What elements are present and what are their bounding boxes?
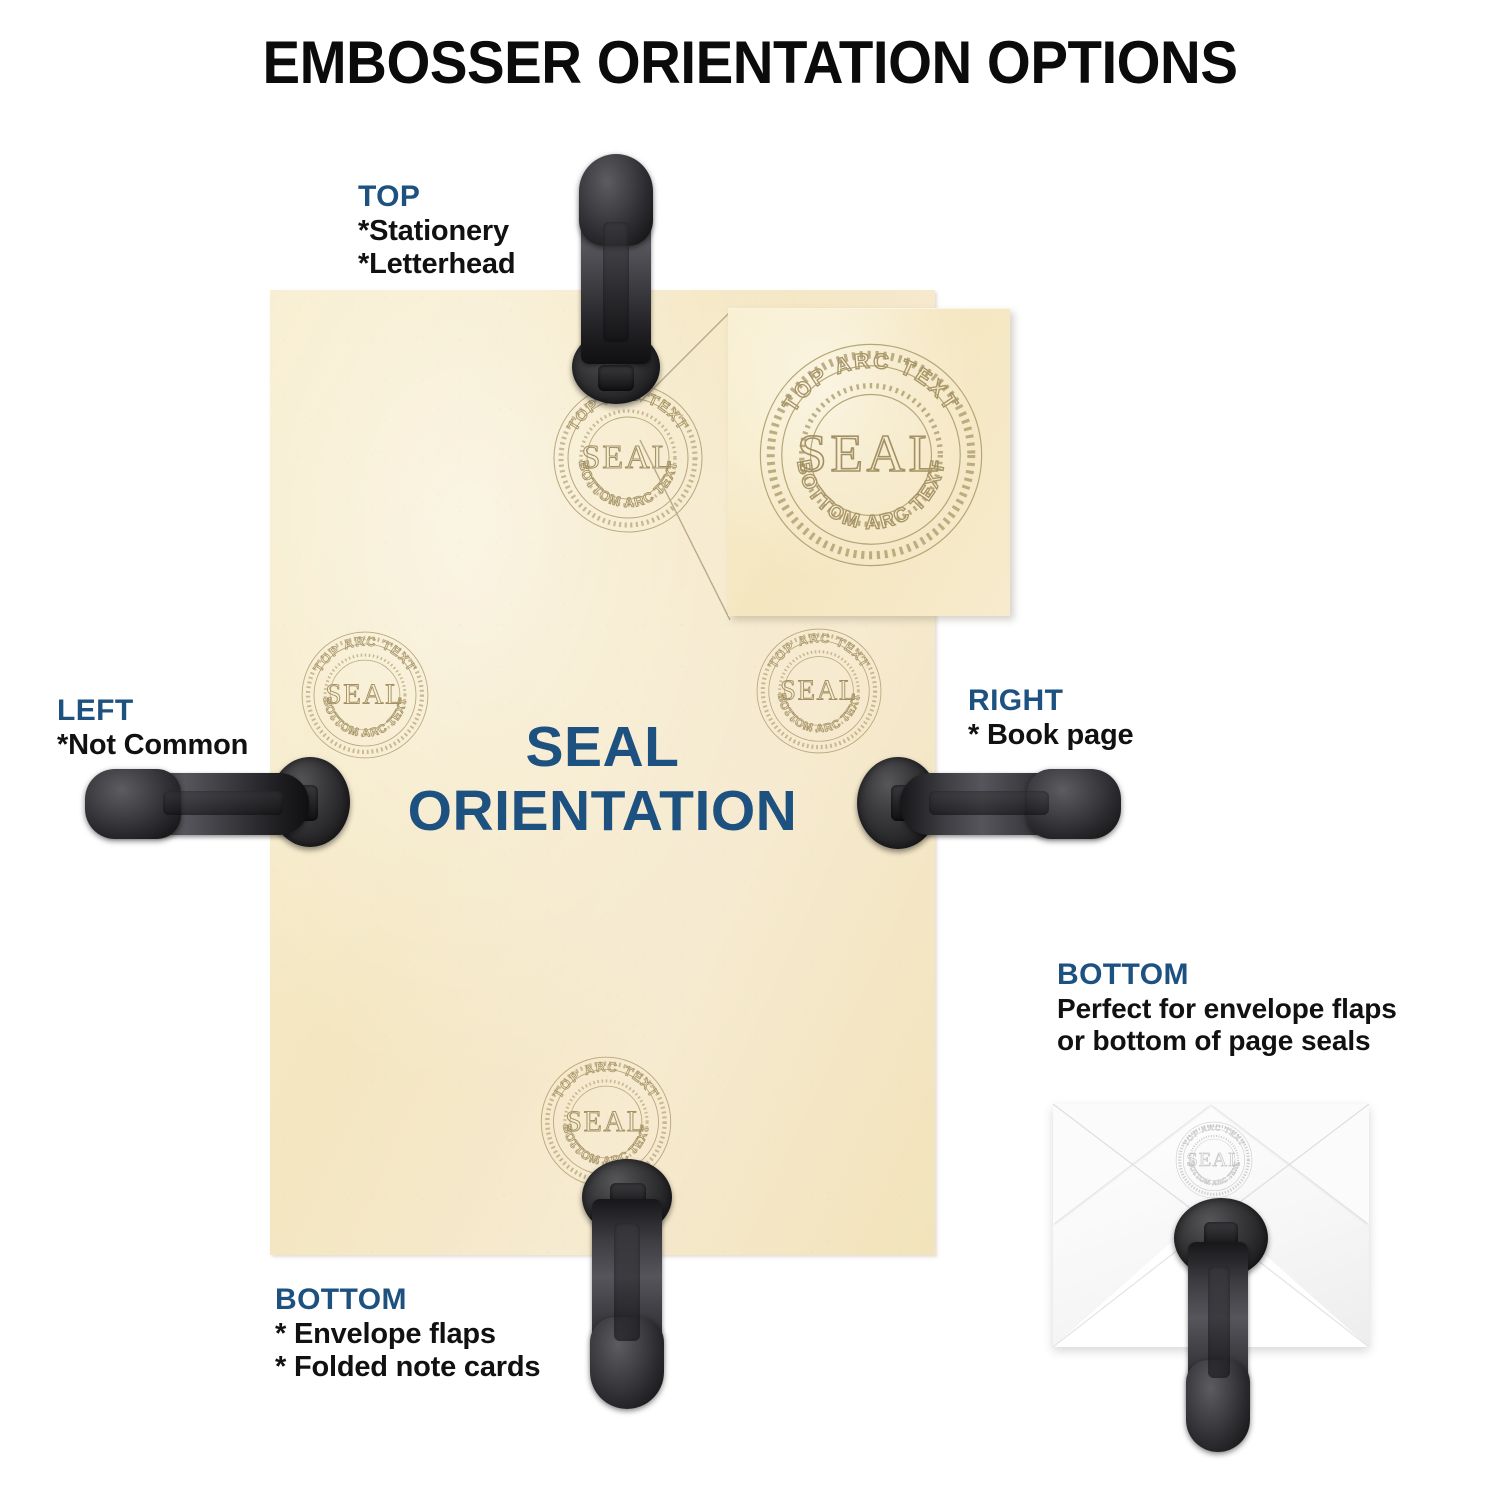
callout-right: RIGHT * Book page	[968, 684, 1133, 752]
page-title: EMBOSSER ORIENTATION OPTIONS	[45, 28, 1455, 97]
seal-top-arc-text: TOP ARC TEXT	[778, 349, 964, 417]
seal-center-text: SEAL	[797, 425, 944, 483]
callout-left-line-1: *Not Common	[57, 729, 248, 763]
callout-bottom-envelope-line-1: Perfect for envelope flaps	[1057, 993, 1397, 1025]
callout-right-line-1: * Book page	[968, 719, 1133, 753]
svg-text:TOP ARC TEXT: TOP ARC TEXT	[778, 349, 964, 417]
callout-bottom-paper-line-1: * Envelope flaps	[275, 1318, 540, 1352]
callout-left: LEFT *Not Common	[57, 694, 248, 762]
callout-top-heading: TOP	[358, 180, 515, 215]
center-wordmark-line1: SEAL	[270, 715, 935, 779]
callout-top-line-1: *Stationery	[358, 215, 515, 249]
callout-bottom-paper-line-2: * Folded note cards	[275, 1351, 540, 1385]
svg-text:BOTTOM ARC TEXT: BOTTOM ARC TEXT	[792, 458, 950, 534]
callout-top-line-2: *Letterhead	[358, 248, 515, 282]
callout-right-heading: RIGHT	[968, 684, 1133, 719]
callout-bottom-paper-heading: BOTTOM	[275, 1283, 540, 1318]
callout-bottom-envelope-heading: BOTTOM	[1057, 958, 1397, 993]
infographic-canvas: EMBOSSER ORIENTATION OPTIONS TOP ARC TEX…	[0, 0, 1500, 1500]
envelope	[1053, 1104, 1369, 1347]
magnified-seal-panel: TOP ARC TEXT BOTTOM ARC TEXT SEAL	[728, 308, 1010, 616]
callout-bottom-paper: BOTTOM * Envelope flaps * Folded note ca…	[275, 1283, 540, 1385]
seal-impression-magnified: TOP ARC TEXT BOTTOM ARC TEXT SEAL	[753, 337, 989, 573]
seal-bottom-arc-text: BOTTOM ARC TEXT	[792, 458, 950, 534]
callout-top: TOP *Stationery *Letterhead	[358, 180, 515, 282]
center-wordmark-line2: ORIENTATION	[270, 779, 935, 843]
callout-bottom-envelope-line-2: or bottom of page seals	[1057, 1025, 1397, 1057]
callout-bottom-envelope: BOTTOM Perfect for envelope flaps or bot…	[1057, 958, 1397, 1058]
callout-left-heading: LEFT	[57, 694, 248, 729]
center-wordmark: SEAL ORIENTATION	[270, 715, 935, 844]
envelope-seams	[1053, 1104, 1369, 1347]
